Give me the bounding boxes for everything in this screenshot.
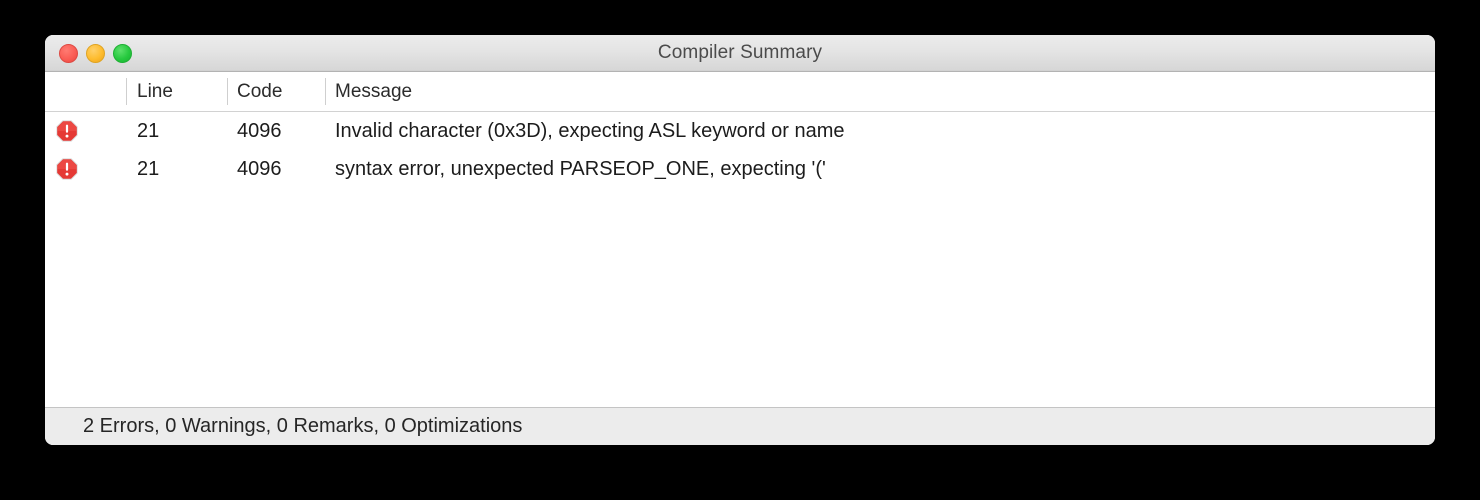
column-divider-2	[227, 78, 228, 105]
column-divider-1	[126, 78, 127, 105]
column-header-code[interactable]: Code	[237, 72, 282, 111]
window-titlebar: Compiler Summary	[45, 35, 1435, 72]
cell-line: 21	[137, 150, 159, 188]
diagnostics-list[interactable]: 21 4096 Invalid character (0x3D), expect…	[45, 112, 1435, 406]
error-icon	[52, 112, 82, 150]
column-header-message[interactable]: Message	[335, 72, 412, 111]
column-header-line[interactable]: Line	[137, 72, 173, 111]
cell-code: 4096	[237, 112, 282, 150]
error-icon	[52, 150, 82, 188]
status-bar: 2 Errors, 0 Warnings, 0 Remarks, 0 Optim…	[45, 407, 1435, 445]
table-row[interactable]: 21 4096 syntax error, unexpected PARSEOP…	[45, 150, 1435, 188]
compiler-summary-window: Compiler Summary Line Code Message 21 40…	[45, 35, 1435, 445]
cell-message: Invalid character (0x3D), expecting ASL …	[335, 112, 845, 150]
table-row[interactable]: 21 4096 Invalid character (0x3D), expect…	[45, 112, 1435, 150]
status-summary-text: 2 Errors, 0 Warnings, 0 Remarks, 0 Optim…	[83, 408, 522, 445]
cell-line: 21	[137, 112, 159, 150]
cell-message: syntax error, unexpected PARSEOP_ONE, ex…	[335, 150, 826, 188]
cell-code: 4096	[237, 150, 282, 188]
column-divider-3	[325, 78, 326, 105]
window-title: Compiler Summary	[45, 35, 1435, 71]
table-header-row: Line Code Message	[45, 72, 1435, 112]
